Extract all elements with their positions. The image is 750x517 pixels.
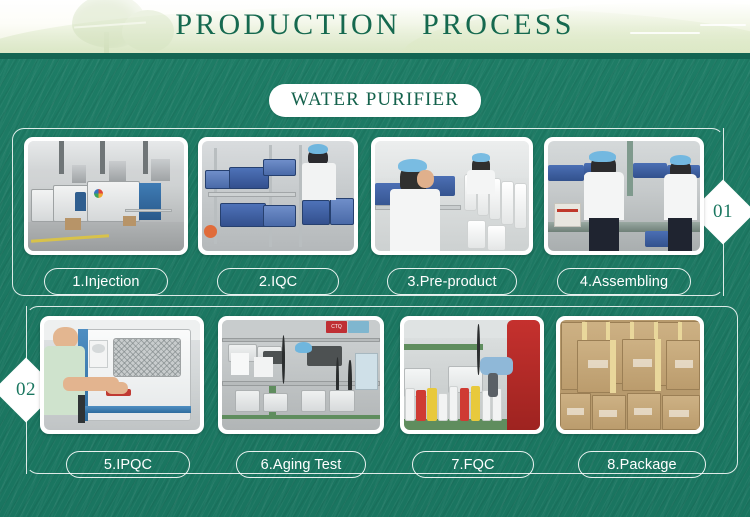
row-2-number-label: 02	[16, 379, 36, 401]
step-6-caption: 6.Aging Test	[236, 451, 366, 478]
step-8-photo-art	[560, 320, 700, 430]
step-5-photo	[40, 316, 204, 434]
page-title: PRODUCTION PROCESS	[0, 8, 750, 42]
header-band: PRODUCTION PROCESS	[0, 0, 750, 59]
step-3-caption: 3.Pre-product	[387, 268, 517, 295]
step-3-photo	[371, 137, 533, 255]
step-7-photo-art	[404, 320, 540, 430]
step-4-caption: 4.Assembling	[557, 268, 691, 295]
step-3-photo-art	[375, 141, 529, 251]
header-underline	[0, 53, 750, 59]
ctq-sign-label: CTQ	[331, 324, 342, 330]
step-8-photo	[556, 316, 704, 434]
step-6-photo: CTQ	[218, 316, 384, 434]
step-1-photo	[24, 137, 188, 255]
step-2-caption: 2.IQC	[217, 268, 339, 295]
ctq-sign: CTQ	[326, 321, 347, 333]
step-4-photo-art	[548, 141, 700, 251]
step-7-caption: 7.FQC	[412, 451, 534, 478]
step-1-caption: 1.Injection	[44, 268, 168, 295]
subtitle-badge: WATER PURIFIER	[269, 84, 481, 117]
step-8-caption: 8.Package	[578, 451, 706, 478]
step-6-photo-art: CTQ	[222, 320, 380, 430]
step-5-photo-art	[44, 320, 200, 430]
step-2-photo	[198, 137, 358, 255]
row-1-number-label: 01	[713, 201, 733, 223]
step-1-photo-art	[28, 141, 184, 251]
step-7-photo	[400, 316, 544, 434]
step-2-photo-art	[202, 141, 354, 251]
production-process-banner: PRODUCTION PROCESS WATER PURIFIER 01	[0, 0, 750, 517]
step-4-photo	[544, 137, 704, 255]
step-5-caption: 5.IPQC	[66, 451, 190, 478]
